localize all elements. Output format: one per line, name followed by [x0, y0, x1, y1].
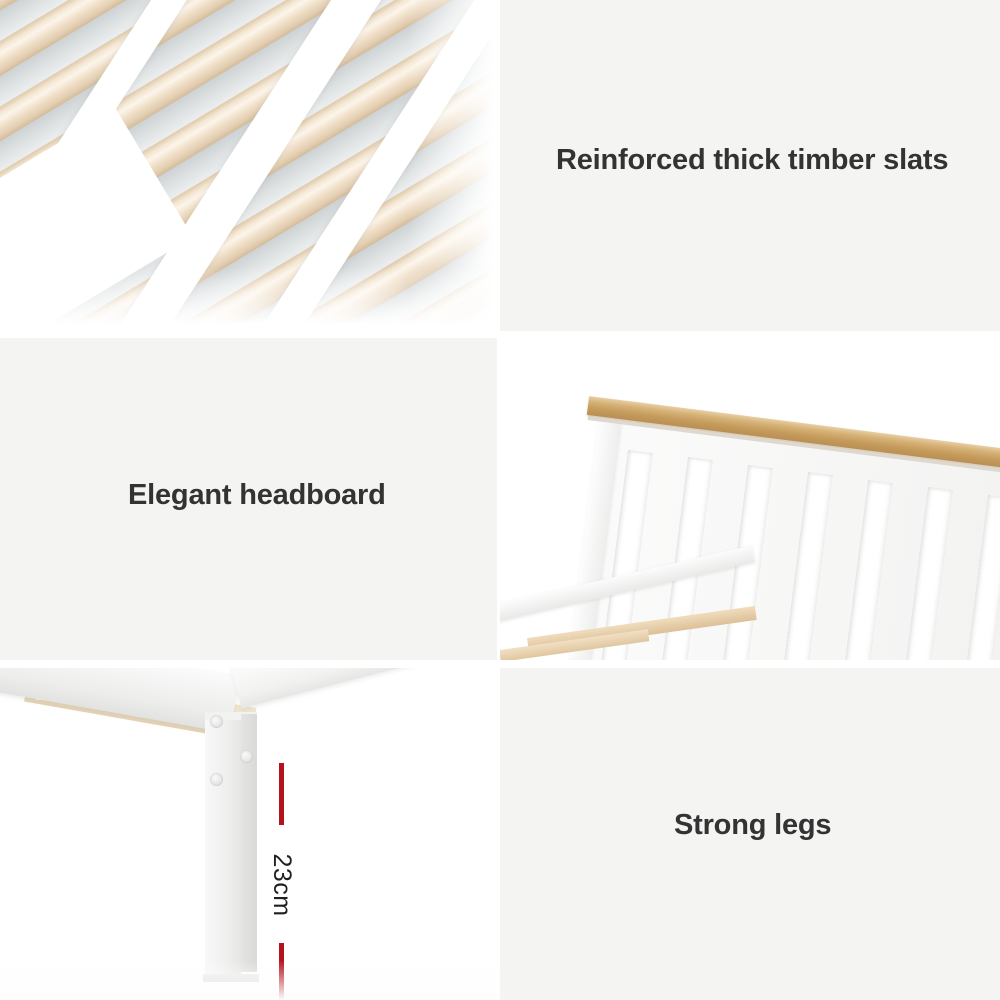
headboard-caption: Elegant headboard	[128, 479, 386, 512]
strong-legs-caption: Strong legs	[674, 809, 831, 842]
photo-edge-fade	[407, 0, 497, 331]
dowel-hole	[210, 715, 223, 728]
product-feature-infographic: Reinforced thick timber slats Elegant he…	[0, 0, 1000, 1000]
headboard-photo	[500, 338, 1000, 660]
timber-slats-caption: Reinforced thick timber slats	[556, 144, 948, 177]
bed-leg	[205, 720, 241, 978]
bed-frame-rail	[230, 668, 497, 709]
timber-slats-caption-panel: Reinforced thick timber slats	[500, 0, 1000, 331]
strong-legs-photo: 23cm	[0, 668, 497, 1000]
dowel-hole	[240, 750, 253, 763]
dowel-hole	[210, 773, 223, 786]
dimension-label: 23cm	[230, 860, 334, 910]
strong-legs-caption-panel: Strong legs	[500, 668, 1000, 1000]
dimension-line-top	[279, 763, 284, 825]
timber-slats-photo	[0, 0, 497, 331]
photo-edge-fade	[0, 960, 497, 1000]
headboard-caption-panel: Elegant headboard	[0, 338, 497, 660]
